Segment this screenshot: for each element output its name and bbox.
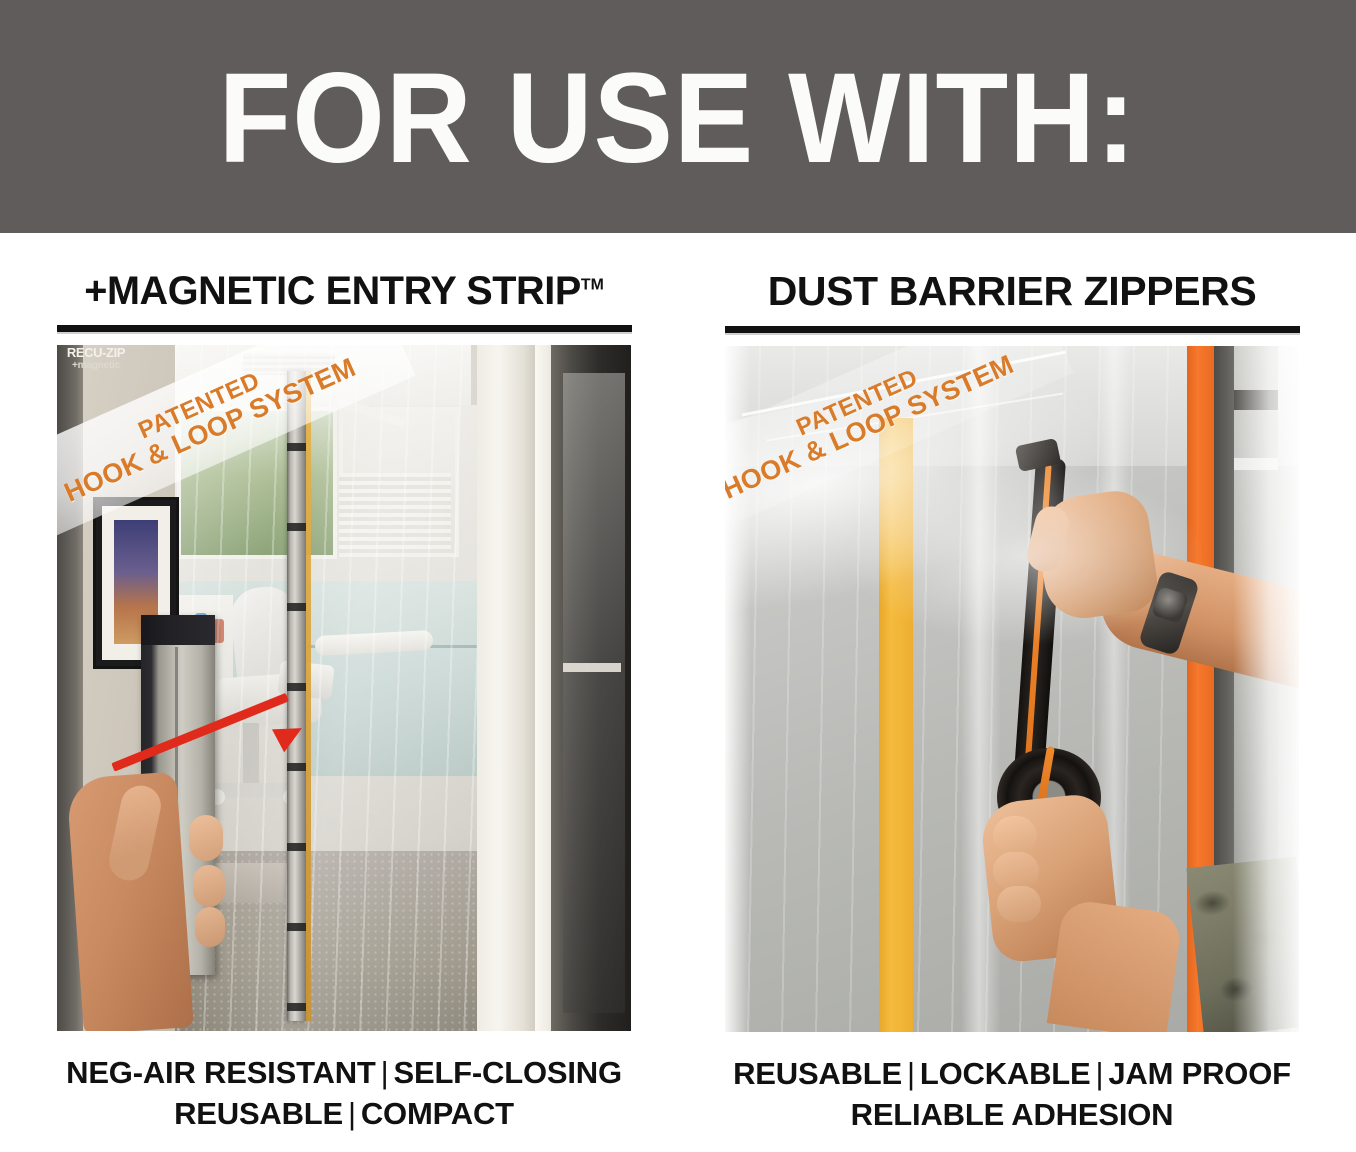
caption-separator: | <box>376 1055 394 1090</box>
adjacent-tape <box>563 663 621 672</box>
feature-reusable: REUSABLE <box>174 1096 343 1131</box>
forearm-lower <box>1047 898 1183 1032</box>
panel-heading-text: +MAGNETIC ENTRY STRIP <box>84 269 581 313</box>
feature-self-closing: SELF-CLOSING <box>393 1055 621 1090</box>
photo-scene-dental-doorway: RECU-ZIP +magnetic <box>57 345 631 1031</box>
heading-divider-left <box>57 325 632 332</box>
panel-heading-text: DUST BARRIER ZIPPERS <box>768 268 1257 314</box>
caption-line-1: NEG-AIR RESISTANT|SELF-CLOSING <box>38 1053 650 1094</box>
package-header-band <box>141 615 215 645</box>
feature-compact: COMPACT <box>361 1096 514 1131</box>
heading-divider-right <box>725 326 1300 333</box>
caption-line-1: REUSABLE|LOCKABLE|JAM PROOF <box>706 1054 1318 1095</box>
page-title: FOR USE WITH: <box>219 55 1137 183</box>
panel-heading-magnetic-entry-strip: +MAGNETIC ENTRY STRIPTM <box>41 271 647 311</box>
finger-1 <box>189 815 223 861</box>
feature-lockable: LOCKABLE <box>920 1056 1091 1091</box>
feature-neg-air-resistant: NEG-AIR RESISTANT <box>66 1055 375 1090</box>
strip-hook-loop-edge <box>306 371 311 1021</box>
caption-dust-barrier-zippers: REUSABLE|LOCKABLE|JAM PROOF RELIABLE ADH… <box>706 1054 1318 1136</box>
left-edge-fade <box>725 346 751 1032</box>
feature-reliable-adhesion: RELIABLE ADHESION <box>851 1097 1174 1132</box>
panel-dust-barrier-zippers: DUST BARRIER ZIPPERS <box>706 233 1318 1152</box>
knuckle-3 <box>997 886 1041 922</box>
strip-segment-markers <box>287 371 306 1021</box>
light-glare-2 <box>845 466 1205 646</box>
photo-dust-barrier-zippers: PATENTED HOOK & LOOP SYSTEM <box>725 346 1299 1032</box>
finger-2 <box>193 865 225 907</box>
promo-graphic: FOR USE WITH: +MAGNETIC ENTRY STRIPTM <box>0 0 1356 1152</box>
trademark-symbol: TM <box>581 277 604 294</box>
knuckle-2 <box>993 852 1039 890</box>
caption-separator: | <box>902 1056 920 1091</box>
door-jamb <box>477 345 539 1031</box>
header-bar: FOR USE WITH: <box>0 0 1356 233</box>
adjacent-sheeting <box>563 373 625 1013</box>
package-variant-label: +magnetic <box>61 360 131 371</box>
package-brand-label: RECU-ZIP <box>61 346 131 359</box>
panel-heading-dust-barrier-zippers: DUST BARRIER ZIPPERS <box>706 271 1318 312</box>
magnetic-entry-strip-installed <box>287 371 306 1021</box>
caption-line-2: REUSABLE|COMPACT <box>38 1094 650 1135</box>
caption-line-2: RELIABLE ADHESION <box>706 1095 1318 1136</box>
caption-magnetic-entry-strip: NEG-AIR RESISTANT|SELF-CLOSING REUSABLE|… <box>38 1053 650 1135</box>
knuckle-1 <box>993 816 1037 856</box>
caption-separator: | <box>1091 1056 1109 1091</box>
finger-3 <box>195 907 225 947</box>
photo-scene-containment-wall <box>725 346 1299 1032</box>
right-edge-fade <box>1233 346 1299 1032</box>
panel-magnetic-entry-strip: +MAGNETIC ENTRY STRIPTM <box>38 233 650 1152</box>
photo-magnetic-entry-strip: RECU-ZIP +magnetic PATENTED HOOK & LOOP … <box>57 345 631 1031</box>
feature-reusable: REUSABLE <box>733 1056 902 1091</box>
caption-separator: | <box>343 1096 361 1131</box>
panels-container: +MAGNETIC ENTRY STRIPTM <box>0 233 1356 1152</box>
feature-jam-proof: JAM PROOF <box>1108 1056 1291 1091</box>
